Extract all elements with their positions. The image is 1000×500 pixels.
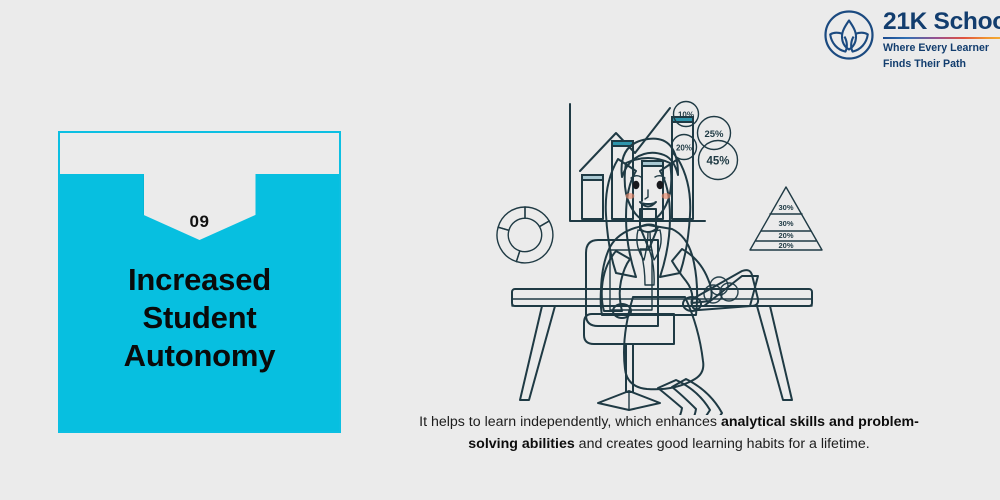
illustration: .ol{stroke:#1f3a44;stroke-width:2;fill:n… xyxy=(470,85,870,415)
percent-bubble-45: 45% xyxy=(699,141,738,180)
description-part1: It helps to learn independently, which e… xyxy=(419,414,721,430)
bubble-label-10: 10% xyxy=(678,111,694,120)
pyramid-level-1: 30% xyxy=(778,203,793,212)
pyramid-chart-icon: 30% 30% 20% 20% xyxy=(750,187,822,250)
description-part2: and creates good learning habits for a l… xyxy=(575,436,870,452)
slide-canvas: 21K School Where Every Learner Finds The… xyxy=(0,0,1000,500)
donut-chart-icon xyxy=(497,207,553,263)
bubble-label-45: 45% xyxy=(706,156,729,168)
lotus-circle-icon xyxy=(823,9,875,61)
card-title-line2: Student xyxy=(60,299,339,337)
pyramid-level-2: 30% xyxy=(778,219,793,228)
bubble-label-20: 20% xyxy=(676,144,692,153)
description-text: It helps to learn independently, which e… xyxy=(396,411,942,455)
brand-logo: 21K School Where Every Learner Finds The… xyxy=(823,8,993,68)
percent-bubble-25: 25% xyxy=(698,117,731,150)
woman-figure xyxy=(601,139,722,415)
card-title: Increased Student Autonomy xyxy=(60,261,339,374)
brand-title: 21K School xyxy=(883,10,1000,35)
feature-card: 09 Increased Student Autonomy xyxy=(58,131,341,433)
card-title-line1: Increased xyxy=(60,261,339,299)
card-number: 09 xyxy=(144,174,256,232)
pyramid-level-4: 20% xyxy=(778,241,793,250)
brand-tagline-line2: Finds Their Path xyxy=(883,58,1000,71)
bubble-label-25: 25% xyxy=(704,129,724,140)
brand-gradient-rule xyxy=(883,37,1000,40)
bar-chart-icon xyxy=(570,104,705,221)
card-title-line3: Autonomy xyxy=(60,337,339,375)
pyramid-level-3: 20% xyxy=(778,231,793,240)
brand-text-block: 21K School Where Every Learner Finds The… xyxy=(883,8,1000,70)
brand-tagline-line1: Where Every Learner xyxy=(883,42,1000,55)
office-chair xyxy=(584,240,674,410)
